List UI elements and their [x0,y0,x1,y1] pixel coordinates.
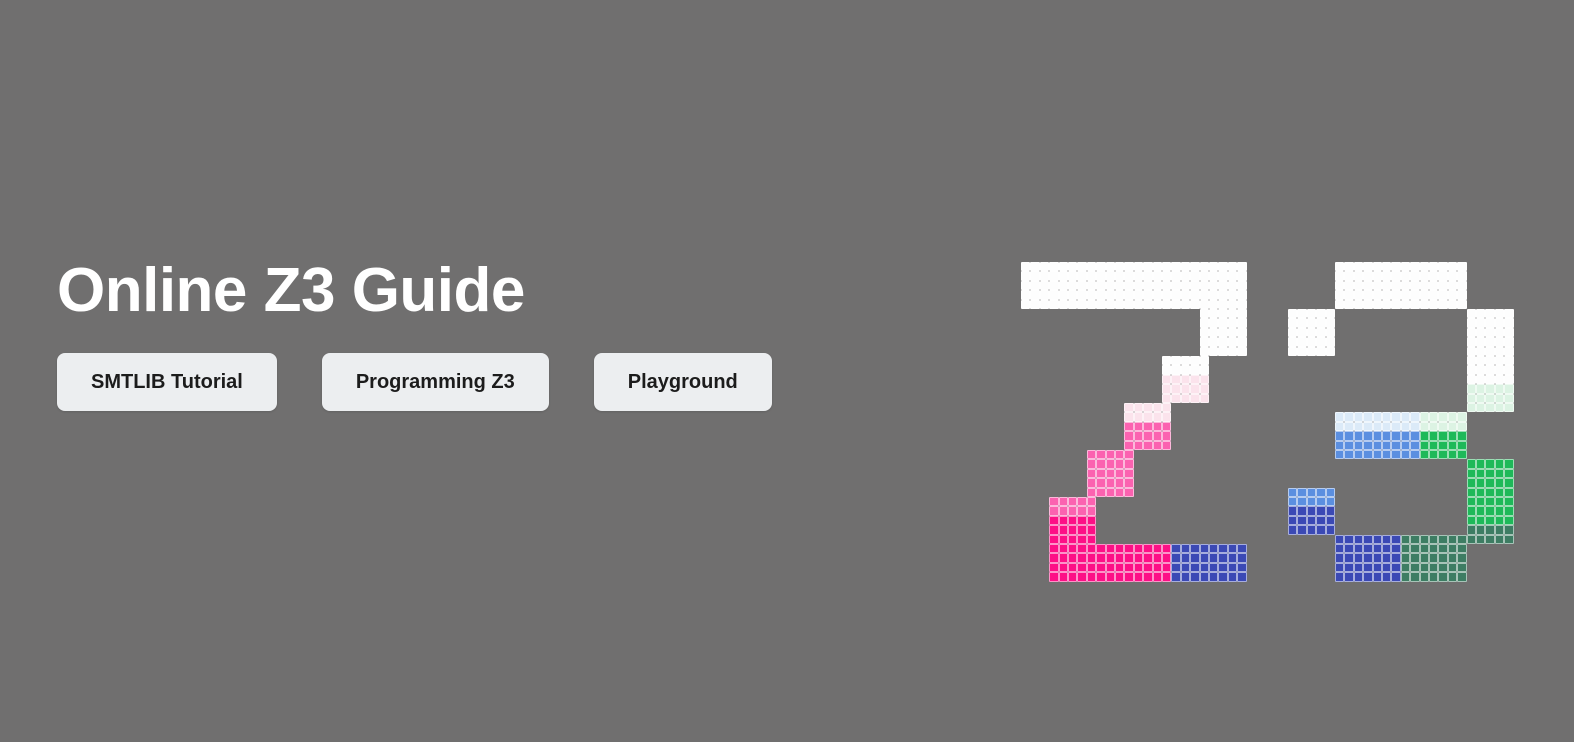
logo-pixel [1429,290,1438,299]
logo-pixel [1237,328,1246,337]
logo-pixel [1181,300,1190,309]
logo-pixel [1162,563,1171,572]
logo-pixel [1373,262,1382,271]
logo-pixel [1030,300,1039,309]
logo-pixel [1448,553,1457,562]
logo-pixel [1077,300,1086,309]
logo-pixel [1209,347,1218,356]
logo-pixel [1209,572,1218,581]
logo-pixel [1373,290,1382,299]
logo-pixel [1134,271,1143,280]
logo-pixel [1391,300,1400,309]
logo-pixel [1049,290,1058,299]
logo-pixel [1504,328,1513,337]
smtlib-tutorial-button[interactable]: SMTLIB Tutorial [57,353,277,411]
logo-pixel [1410,563,1419,572]
logo-pixel [1190,262,1199,271]
logo-pixel [1237,300,1246,309]
logo-pixel [1106,281,1115,290]
logo-pixel [1143,553,1152,562]
logo-pixel [1096,563,1105,572]
logo-pixel [1401,412,1410,421]
logo-pixel [1237,337,1246,346]
logo-pixel [1495,516,1504,525]
page-title: Online Z3 Guide [57,258,957,323]
logo-pixel [1382,572,1391,581]
logo-pixel [1410,544,1419,553]
logo-pixel [1373,281,1382,290]
logo-pixel [1209,563,1218,572]
logo-pixel [1354,281,1363,290]
logo-pixel [1153,431,1162,440]
logo-pixel [1373,422,1382,431]
logo-pixel [1106,544,1115,553]
programming-z3-button[interactable]: Programming Z3 [322,353,549,411]
logo-pixel [1228,281,1237,290]
logo-pixel [1040,271,1049,280]
logo-pixel [1200,309,1209,318]
logo-pixel [1106,563,1115,572]
logo-pixel [1162,412,1171,421]
logo-pixel [1228,544,1237,553]
logo-pixel [1115,271,1124,280]
logo-pixel [1485,478,1494,487]
logo-pixel [1181,544,1190,553]
logo-pixel [1467,384,1476,393]
logo-pixel [1228,572,1237,581]
logo-pixel [1297,328,1306,337]
logo-pixel [1401,422,1410,431]
logo-pixel [1115,563,1124,572]
logo-pixel [1485,535,1494,544]
logo-pixel [1134,553,1143,562]
logo-pixel [1124,469,1133,478]
logo-pixel [1124,544,1133,553]
logo-pixel [1476,459,1485,468]
logo-pixel [1363,262,1372,271]
logo-pixel [1504,337,1513,346]
logo-pixel [1495,394,1504,403]
logo-pixel [1106,459,1115,468]
logo-pixel [1401,553,1410,562]
logo-pixel [1485,469,1494,478]
logo-pixel [1467,516,1476,525]
logo-pixel [1096,450,1105,459]
logo-pixel [1335,572,1344,581]
logo-pixel [1448,450,1457,459]
logo-pixel [1420,271,1429,280]
logo-pixel [1115,488,1124,497]
logo-pixel [1457,262,1466,271]
logo-pixel [1124,441,1133,450]
logo-pixel [1495,337,1504,346]
logo-pixel [1495,535,1504,544]
logo-pixel [1344,422,1353,431]
logo-pixel [1068,290,1077,299]
logo-pixel [1316,318,1325,327]
logo-pixel [1124,478,1133,487]
logo-pixel [1448,422,1457,431]
logo-pixel [1476,497,1485,506]
logo-pixel [1420,262,1429,271]
logo-pixel [1401,271,1410,280]
logo-pixel [1420,535,1429,544]
logo-pixel [1218,553,1227,562]
logo-pixel [1316,347,1325,356]
logo-pixel [1410,422,1419,431]
logo-pixel [1059,572,1068,581]
logo-pixel [1200,365,1209,374]
logo-pixel [1124,412,1133,421]
logo-pixel [1420,300,1429,309]
logo-pixel [1068,516,1077,525]
logo-pixel [1087,271,1096,280]
logo-pixel [1467,469,1476,478]
logo-pixel [1307,506,1316,515]
logo-pixel [1171,300,1180,309]
logo-pixel [1495,459,1504,468]
logo-pixel [1354,271,1363,280]
logo-pixel [1087,497,1096,506]
logo-pixel [1382,441,1391,450]
logo-pixel [1087,450,1096,459]
logo-pixel [1087,553,1096,562]
logo-pixel [1106,488,1115,497]
logo-pixel [1363,572,1372,581]
logo-pixel [1457,412,1466,421]
logo-pixel [1354,553,1363,562]
logo-pixel [1190,356,1199,365]
logo-pixel [1040,300,1049,309]
logo-pixel [1373,450,1382,459]
logo-pixel [1153,290,1162,299]
logo-pixel [1030,262,1039,271]
logo-pixel [1218,309,1227,318]
logo-pixel [1200,572,1209,581]
logo-pixel [1335,281,1344,290]
logo-pixel [1040,290,1049,299]
logo-pixel [1049,271,1058,280]
logo-pixel [1200,281,1209,290]
logo-pixel [1190,290,1199,299]
logo-pixel [1096,478,1105,487]
logo-pixel [1467,478,1476,487]
logo-pixel [1209,328,1218,337]
logo-pixel [1162,431,1171,440]
logo-pixel [1373,271,1382,280]
logo-pixel [1153,441,1162,450]
logo-pixel [1190,394,1199,403]
logo-pixel [1335,544,1344,553]
logo-pixel [1401,572,1410,581]
logo-pixel [1124,553,1133,562]
logo-pixel [1181,384,1190,393]
logo-pixel [1467,497,1476,506]
logo-pixel [1448,572,1457,581]
logo-pixel [1106,290,1115,299]
logo-pixel [1143,271,1152,280]
logo-pixel [1124,488,1133,497]
logo-pixel [1391,450,1400,459]
logo-pixel [1049,525,1058,534]
logo-pixel [1087,535,1096,544]
logo-pixel [1077,553,1086,562]
logo-pixel [1134,300,1143,309]
logo-pixel [1363,290,1372,299]
logo-pixel [1326,488,1335,497]
logo-pixel [1363,450,1372,459]
logo-pixel [1382,431,1391,440]
logo-pixel [1307,497,1316,506]
logo-pixel [1410,535,1419,544]
logo-pixel [1382,544,1391,553]
logo-pixel [1171,384,1180,393]
logo-pixel [1316,309,1325,318]
logo-pixel [1124,281,1133,290]
playground-button[interactable]: Playground [594,353,772,411]
logo-pixel [1495,478,1504,487]
logo-pixel [1438,544,1447,553]
logo-pixel [1307,488,1316,497]
logo-pixel [1134,563,1143,572]
logo-pixel [1485,309,1494,318]
logo-pixel [1373,563,1382,572]
logo-pixel [1068,553,1077,562]
logo-pixel [1420,431,1429,440]
logo-pixel [1344,431,1353,440]
logo-pixel [1391,535,1400,544]
logo-pixel [1457,450,1466,459]
logo-pixel [1495,488,1504,497]
logo-pixel [1134,544,1143,553]
logo-pixel [1467,347,1476,356]
logo-pixel [1096,544,1105,553]
logo-pixel [1335,441,1344,450]
logo-pixel [1467,394,1476,403]
logo-pixel [1326,309,1335,318]
logo-pixel [1373,572,1382,581]
hero-button-row: SMTLIB Tutorial Programming Z3 Playgroun… [57,353,957,411]
logo-pixel [1354,422,1363,431]
logo-pixel [1143,300,1152,309]
logo-pixel [1068,572,1077,581]
logo-pixel [1448,271,1457,280]
logo-pixel [1087,300,1096,309]
logo-pixel [1162,262,1171,271]
logo-pixel [1162,375,1171,384]
logo-pixel [1448,300,1457,309]
logo-pixel [1288,516,1297,525]
z3-pixel-logo [1021,262,1521,582]
logo-pixel [1344,262,1353,271]
logo-pixel [1335,290,1344,299]
logo-pixel [1354,450,1363,459]
logo-pixel [1209,281,1218,290]
logo-pixel [1153,281,1162,290]
logo-pixel [1059,506,1068,515]
logo-pixel [1059,271,1068,280]
logo-pixel [1326,347,1335,356]
logo-pixel [1326,497,1335,506]
logo-pixel [1021,281,1030,290]
logo-pixel [1476,356,1485,365]
logo-pixel [1485,506,1494,515]
logo-pixel [1307,337,1316,346]
logo-pixel [1124,403,1133,412]
logo-pixel [1344,563,1353,572]
logo-pixel [1068,271,1077,280]
logo-pixel [1448,535,1457,544]
logo-pixel [1495,525,1504,534]
logo-pixel [1162,422,1171,431]
logo-pixel [1237,309,1246,318]
logo-pixel [1171,271,1180,280]
logo-pixel [1106,300,1115,309]
logo-pixel [1420,441,1429,450]
logo-pixel [1354,300,1363,309]
logo-pixel [1218,262,1227,271]
logo-pixel [1077,262,1086,271]
logo-pixel [1344,553,1353,562]
logo-pixel [1504,535,1513,544]
logo-pixel [1382,450,1391,459]
logo-pixel [1049,506,1058,515]
logo-pixel [1134,431,1143,440]
logo-pixel [1429,535,1438,544]
logo-pixel [1457,422,1466,431]
logo-pixel [1485,328,1494,337]
logo-pixel [1373,544,1382,553]
logo-pixel [1228,309,1237,318]
logo-pixel [1171,375,1180,384]
logo-pixel [1153,262,1162,271]
logo-pixel [1438,572,1447,581]
logo-pixel [1495,318,1504,327]
logo-pixel [1495,309,1504,318]
logo-pixel [1068,262,1077,271]
logo-pixel [1476,328,1485,337]
logo-pixel [1420,572,1429,581]
logo-pixel [1495,384,1504,393]
logo-pixel [1059,525,1068,534]
logo-pixel [1448,281,1457,290]
logo-pixel [1228,553,1237,562]
logo-pixel [1077,290,1086,299]
logo-pixel [1181,262,1190,271]
logo-pixel [1373,441,1382,450]
logo-pixel [1181,290,1190,299]
logo-pixel [1171,262,1180,271]
logo-pixel [1382,300,1391,309]
logo-pixel [1391,281,1400,290]
logo-pixel [1391,290,1400,299]
logo-pixel [1401,262,1410,271]
logo-pixel [1335,271,1344,280]
logo-pixel [1391,422,1400,431]
logo-pixel [1021,300,1030,309]
logo-pixel [1354,262,1363,271]
logo-pixel [1143,412,1152,421]
logo-pixel [1237,281,1246,290]
logo-pixel [1457,572,1466,581]
logo-pixel [1363,544,1372,553]
logo-pixel [1134,262,1143,271]
logo-pixel [1087,488,1096,497]
logo-pixel [1410,441,1419,450]
logo-pixel [1297,337,1306,346]
logo-pixel [1200,300,1209,309]
logo-pixel [1124,572,1133,581]
logo-pixel [1495,356,1504,365]
logo-pixel [1495,403,1504,412]
logo-pixel [1476,347,1485,356]
logo-pixel [1200,347,1209,356]
logo-pixel [1316,497,1325,506]
logo-pixel [1190,544,1199,553]
logo-pixel [1344,544,1353,553]
logo-pixel [1040,262,1049,271]
logo-pixel [1316,525,1325,534]
logo-pixel [1153,300,1162,309]
logo-pixel [1438,271,1447,280]
logo-pixel [1485,356,1494,365]
logo-pixel [1106,469,1115,478]
logo-pixel [1068,535,1077,544]
logo-pixel [1297,525,1306,534]
logo-pixel [1218,328,1227,337]
logo-pixel [1344,441,1353,450]
logo-pixel [1307,309,1316,318]
logo-pixel [1354,441,1363,450]
logo-pixel [1077,516,1086,525]
logo-pixel [1410,262,1419,271]
logo-pixel [1467,459,1476,468]
logo-pixel [1335,553,1344,562]
logo-pixel [1153,271,1162,280]
logo-pixel [1288,318,1297,327]
logo-pixel [1218,281,1227,290]
logo-pixel [1448,544,1457,553]
logo-pixel [1181,356,1190,365]
logo-pixel [1448,290,1457,299]
logo-pixel [1363,422,1372,431]
logo-pixel [1429,431,1438,440]
logo-pixel [1485,516,1494,525]
logo-pixel [1162,572,1171,581]
logo-pixel [1373,431,1382,440]
logo-pixel [1382,535,1391,544]
logo-pixel [1162,394,1171,403]
logo-pixel [1171,290,1180,299]
logo-pixel [1363,441,1372,450]
logo-pixel [1401,300,1410,309]
logo-pixel [1354,572,1363,581]
logo-pixel [1495,506,1504,515]
logo-pixel [1410,450,1419,459]
logo-pixel [1059,290,1068,299]
logo-pixel [1297,516,1306,525]
logo-pixel [1087,459,1096,468]
logo-pixel [1096,553,1105,562]
logo-pixel [1077,271,1086,280]
logo-pixel [1209,553,1218,562]
logo-pixel [1190,375,1199,384]
logo-pixel [1316,328,1325,337]
logo-pixel [1181,563,1190,572]
logo-pixel [1087,563,1096,572]
logo-pixel [1420,281,1429,290]
logo-pixel [1228,337,1237,346]
